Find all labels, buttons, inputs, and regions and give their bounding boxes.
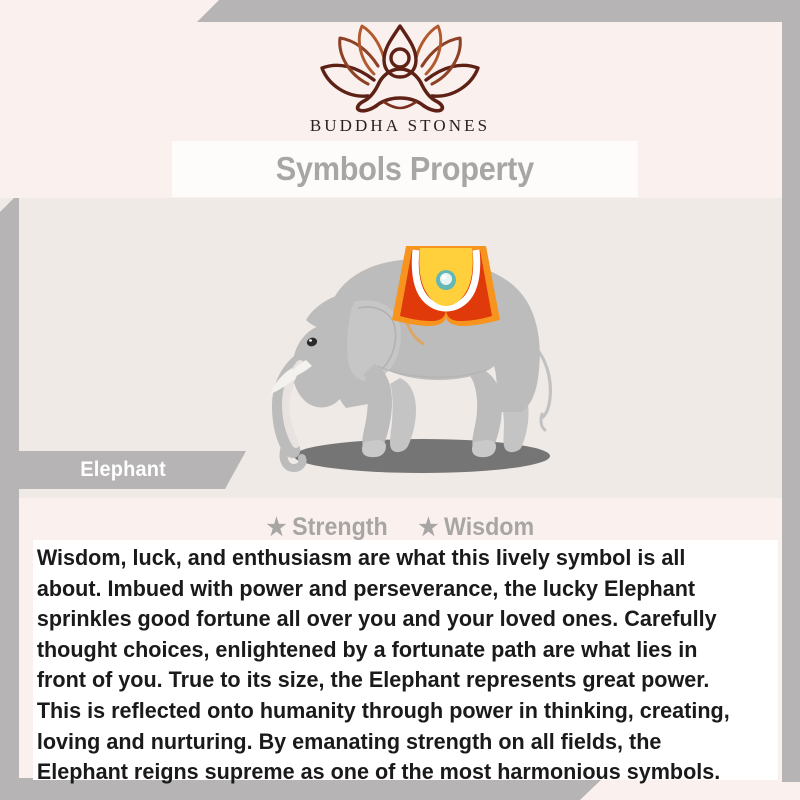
- star-icon: ★: [266, 516, 286, 540]
- symbol-info-card: BUDDHA STONES Symbols Property: [0, 0, 800, 800]
- lotus-meditation-icon: [312, 22, 488, 114]
- star-icon: ★: [418, 516, 438, 540]
- symbol-name-tab: Elephant: [18, 451, 246, 489]
- attribute-label: Wisdom: [444, 513, 534, 542]
- brand-header: BUDDHA STONES: [0, 22, 800, 136]
- attribute-wisdom: ★ Wisdom: [418, 513, 534, 542]
- walking-elephant-icon: [250, 228, 570, 486]
- page-title: Symbols Property: [276, 150, 534, 188]
- decorative-bar-right: [782, 22, 800, 782]
- symbol-name: Elephant: [80, 458, 166, 482]
- description-panel: Wisdom, luck, and enthusiasm are what th…: [33, 540, 778, 780]
- elephant-front-leg: [362, 364, 392, 452]
- brand-name: BUDDHA STONES: [310, 116, 490, 136]
- title-banner: Symbols Property: [172, 141, 638, 197]
- attribute-label: Strength: [292, 513, 388, 542]
- attribute-strength: ★ Strength: [266, 513, 387, 542]
- symbol-attributes: ★ Strength ★ Wisdom: [0, 513, 800, 542]
- decorative-bar-left: [0, 198, 19, 800]
- symbol-description: Wisdom, luck, and enthusiasm are what th…: [33, 540, 744, 788]
